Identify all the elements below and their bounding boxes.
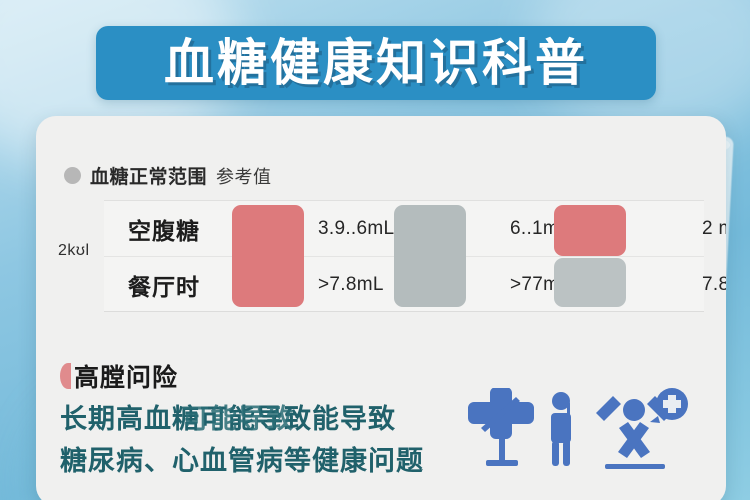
reference-table: 2kʊl 空腹糖 3.9..6mL 6..1moL 2 mL 餐厅时 >7.8m…: [58, 200, 704, 310]
color-block-gray-1: [394, 205, 466, 307]
table-cell-value: 7.8mL: [692, 274, 726, 296]
icon-divider: [567, 402, 570, 464]
icon-cluster: [450, 388, 700, 488]
risk-heading-text: 高膛问险: [74, 358, 178, 394]
color-block-gray-2: [554, 258, 626, 307]
title-banner: 血糖健康知识科普: [96, 26, 656, 100]
poster-root: 血糖健康知识科普 血糖正常范围 参考值 2kʊl 空腹糖 3.9..6mL 6.…: [0, 0, 750, 500]
table-unit-label: 2kʊl: [58, 242, 90, 260]
page-title: 血糖健康知识科普: [164, 38, 588, 88]
table-row-label: 空腹糖: [104, 212, 224, 246]
legend-label: 血糖正常范围: [90, 162, 207, 189]
color-block-red-2: [554, 205, 626, 256]
legend: 血糖正常范围 参考值: [64, 162, 272, 189]
medical-cross-sign-icon: [468, 388, 534, 466]
pink-accent-icon: [60, 363, 71, 389]
risk-body-line-2: 糖尿病、心血管病等健康问题: [60, 440, 480, 482]
risk-body-line-1: 长期高血糖可能导致能导致可能导致: [60, 398, 480, 440]
table-grid: 空腹糖 3.9..6mL 6..1moL 2 mL 餐厅时 >7.8mL >77…: [104, 200, 704, 312]
legend-sub-label: 参考值: [216, 163, 272, 189]
color-block-red-1: [232, 205, 304, 307]
table-cell-value: 2 mL: [692, 218, 726, 240]
table-row-label: 餐厅时: [104, 268, 224, 302]
risk-body: 长期高血糖可能导致能导致可能导致 糖尿病、心血管病等健康问题: [60, 398, 480, 482]
icon-cluster-svg: [450, 388, 700, 488]
risk-body-line-1-ghost: 可能导致: [182, 398, 294, 440]
risk-heading: 高膛问险: [60, 358, 178, 394]
gray-circle-bullet-icon: [64, 167, 81, 184]
content-card: 血糖正常范围 参考值 2kʊl 空腹糖 3.9..6mL 6..1moL 2 m…: [36, 116, 726, 500]
